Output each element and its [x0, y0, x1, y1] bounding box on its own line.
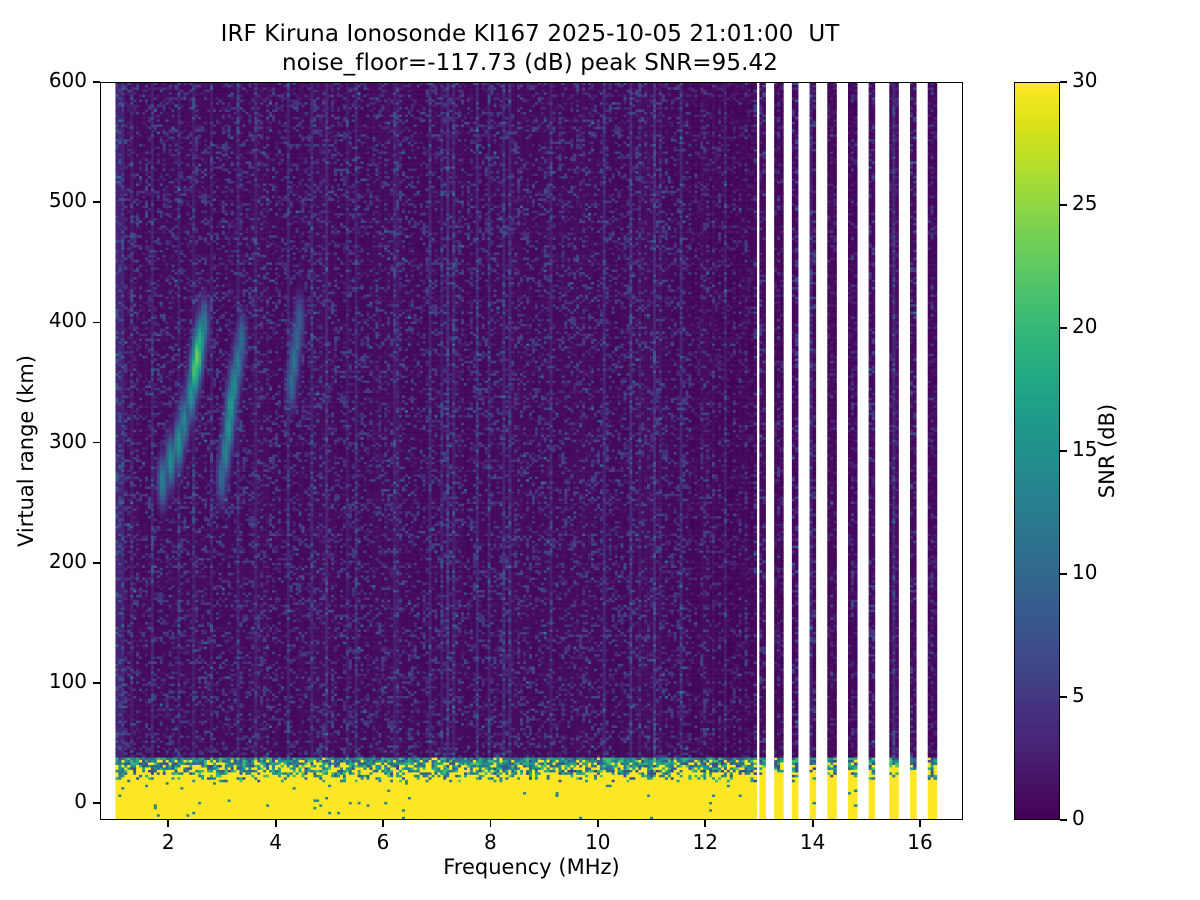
x-tick-label: 4 — [236, 830, 316, 854]
colorbar-gradient — [1015, 83, 1059, 819]
snr-colorbar[interactable] — [1014, 82, 1060, 820]
colorbar-tick-mark — [1060, 573, 1067, 575]
x-tick-mark — [919, 820, 921, 827]
y-tick-mark — [93, 442, 100, 444]
colorbar-tick-mark — [1060, 204, 1067, 206]
x-tick-label: 16 — [880, 830, 960, 854]
y-tick-mark — [93, 322, 100, 324]
x-tick-mark — [704, 820, 706, 827]
x-tick-label: 6 — [343, 830, 423, 854]
x-tick-mark — [812, 820, 814, 827]
y-tick-mark — [93, 682, 100, 684]
y-tick-mark — [93, 802, 100, 804]
x-axis-label: Frequency (MHz) — [100, 855, 963, 879]
x-tick-mark — [382, 820, 384, 827]
figure-title: IRF Kiruna Ionosonde KI167 2025-10-05 21… — [0, 20, 1060, 79]
ionogram-plot-area[interactable] — [100, 82, 963, 820]
ionogram-heatmap — [101, 83, 963, 820]
y-axis-label: Virtual range (km) — [14, 82, 38, 820]
y-tick-mark — [93, 562, 100, 564]
title-line-1: IRF Kiruna Ionosonde KI167 2025-10-05 21… — [0, 20, 1060, 49]
x-tick-label: 2 — [128, 830, 208, 854]
colorbar-tick-mark — [1060, 81, 1067, 83]
y-tick-mark — [93, 201, 100, 203]
x-tick-mark — [597, 820, 599, 827]
title-line-2: noise_floor=-117.73 (dB) peak SNR=95.42 — [0, 49, 1060, 78]
x-tick-label: 10 — [558, 830, 638, 854]
colorbar-tick-mark — [1060, 819, 1067, 821]
colorbar-tick-mark — [1060, 450, 1067, 452]
x-tick-label: 14 — [773, 830, 853, 854]
x-tick-label: 12 — [665, 830, 745, 854]
colorbar-tick-mark — [1060, 327, 1067, 329]
x-tick-mark — [490, 820, 492, 827]
colorbar-label: SNR (dB) — [1095, 82, 1119, 820]
y-tick-mark — [93, 81, 100, 83]
ionogram-figure: IRF Kiruna Ionosonde KI167 2025-10-05 21… — [0, 0, 1200, 900]
x-tick-mark — [275, 820, 277, 827]
x-tick-label: 8 — [450, 830, 530, 854]
colorbar-tick-mark — [1060, 696, 1067, 698]
x-tick-mark — [167, 820, 169, 827]
